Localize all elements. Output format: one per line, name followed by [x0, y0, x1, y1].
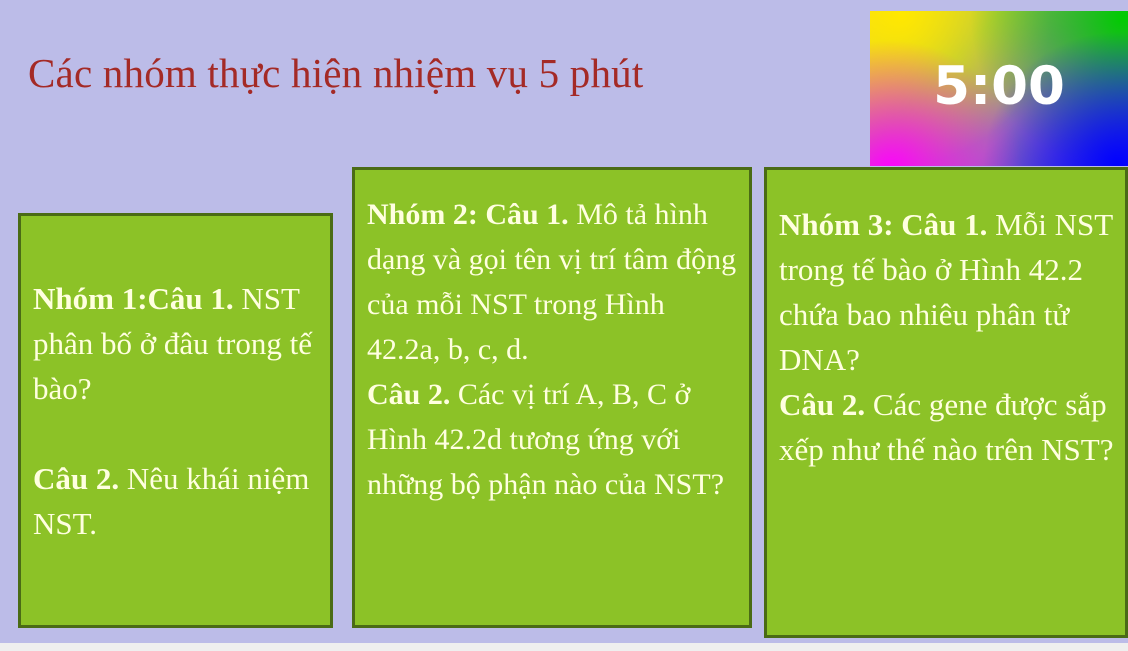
- task-group-3-q2-label: Câu 2.: [779, 387, 865, 422]
- task-group-1-question-1: Nhóm 1:Câu 1. NST phân bố ở đâu trong tế…: [33, 276, 320, 411]
- task-group-2-question-1: Nhóm 2: Câu 1. Mô tả hình dạng và gọi tê…: [367, 192, 741, 372]
- timer-value: 5:00: [870, 11, 1128, 166]
- task-group-3-label: Nhóm 3: Câu 1.: [779, 207, 987, 242]
- paragraph-spacer: [33, 411, 320, 456]
- task-group-2-q2-label: Câu 2.: [367, 378, 450, 411]
- task-group-2-label: Nhóm 2: Câu 1.: [367, 198, 569, 231]
- task-group-2-question-2: Câu 2. Các vị trí A, B, C ở Hình 42.2d t…: [367, 372, 741, 507]
- countdown-timer[interactable]: 5:00: [870, 11, 1128, 166]
- task-box-group-3[interactable]: Nhóm 3: Câu 1. Mỗi NST trong tế bào ở Hì…: [764, 167, 1128, 638]
- task-box-group-2[interactable]: Nhóm 2: Câu 1. Mô tả hình dạng và gọi tê…: [352, 167, 752, 628]
- bottom-strip: [0, 643, 1128, 651]
- page-title: Các nhóm thực hiện nhiệm vụ 5 phút: [28, 48, 808, 98]
- task-group-3-question-2: Câu 2. Các gene được sắp xếp như thế nào…: [779, 382, 1117, 472]
- task-box-group-1[interactable]: Nhóm 1:Câu 1. NST phân bố ở đâu trong tế…: [18, 213, 333, 628]
- task-group-1-q2-label: Câu 2.: [33, 461, 119, 496]
- slide-canvas: Các nhóm thực hiện nhiệm vụ 5 phút 5:00 …: [0, 0, 1128, 643]
- task-group-3-question-1: Nhóm 3: Câu 1. Mỗi NST trong tế bào ở Hì…: [779, 202, 1117, 382]
- task-group-1-label: Nhóm 1:Câu 1.: [33, 281, 234, 316]
- task-group-1-question-2: Câu 2. Nêu khái niệm NST.: [33, 456, 320, 546]
